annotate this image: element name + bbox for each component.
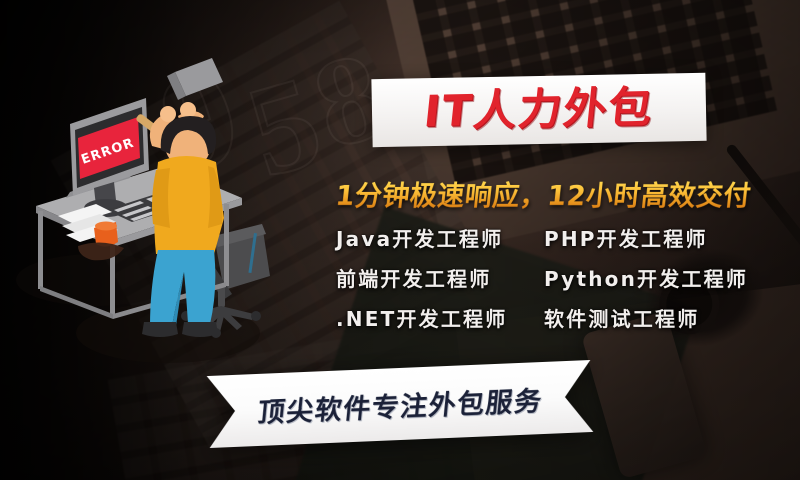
job-role-frontend: 前端开发工程师 <box>336 268 544 291</box>
title-plate: IT人力外包 <box>371 73 706 147</box>
job-roles-grid: Java开发工程师 PHP开发工程师 前端开发工程师 Python开发工程师 .… <box>336 228 782 331</box>
job-role-java: Java开发工程师 <box>336 228 544 251</box>
ribbon-slogan: 顶尖软件专注外包服务 <box>256 378 545 429</box>
job-role-qa: 软件测试工程师 <box>544 308 782 331</box>
subtitle-tagline: 1分钟极速响应，12小时高效交付 <box>334 176 782 210</box>
developer-illustration: ERROR <box>18 58 288 388</box>
promo-banner: 9 5 8 <box>0 0 800 480</box>
job-role-python: Python开发工程师 <box>544 268 782 291</box>
page-title: IT人力外包 <box>422 86 656 133</box>
job-role-dotnet: .NET开发工程师 <box>336 308 544 331</box>
job-role-php: PHP开发工程师 <box>544 228 782 251</box>
